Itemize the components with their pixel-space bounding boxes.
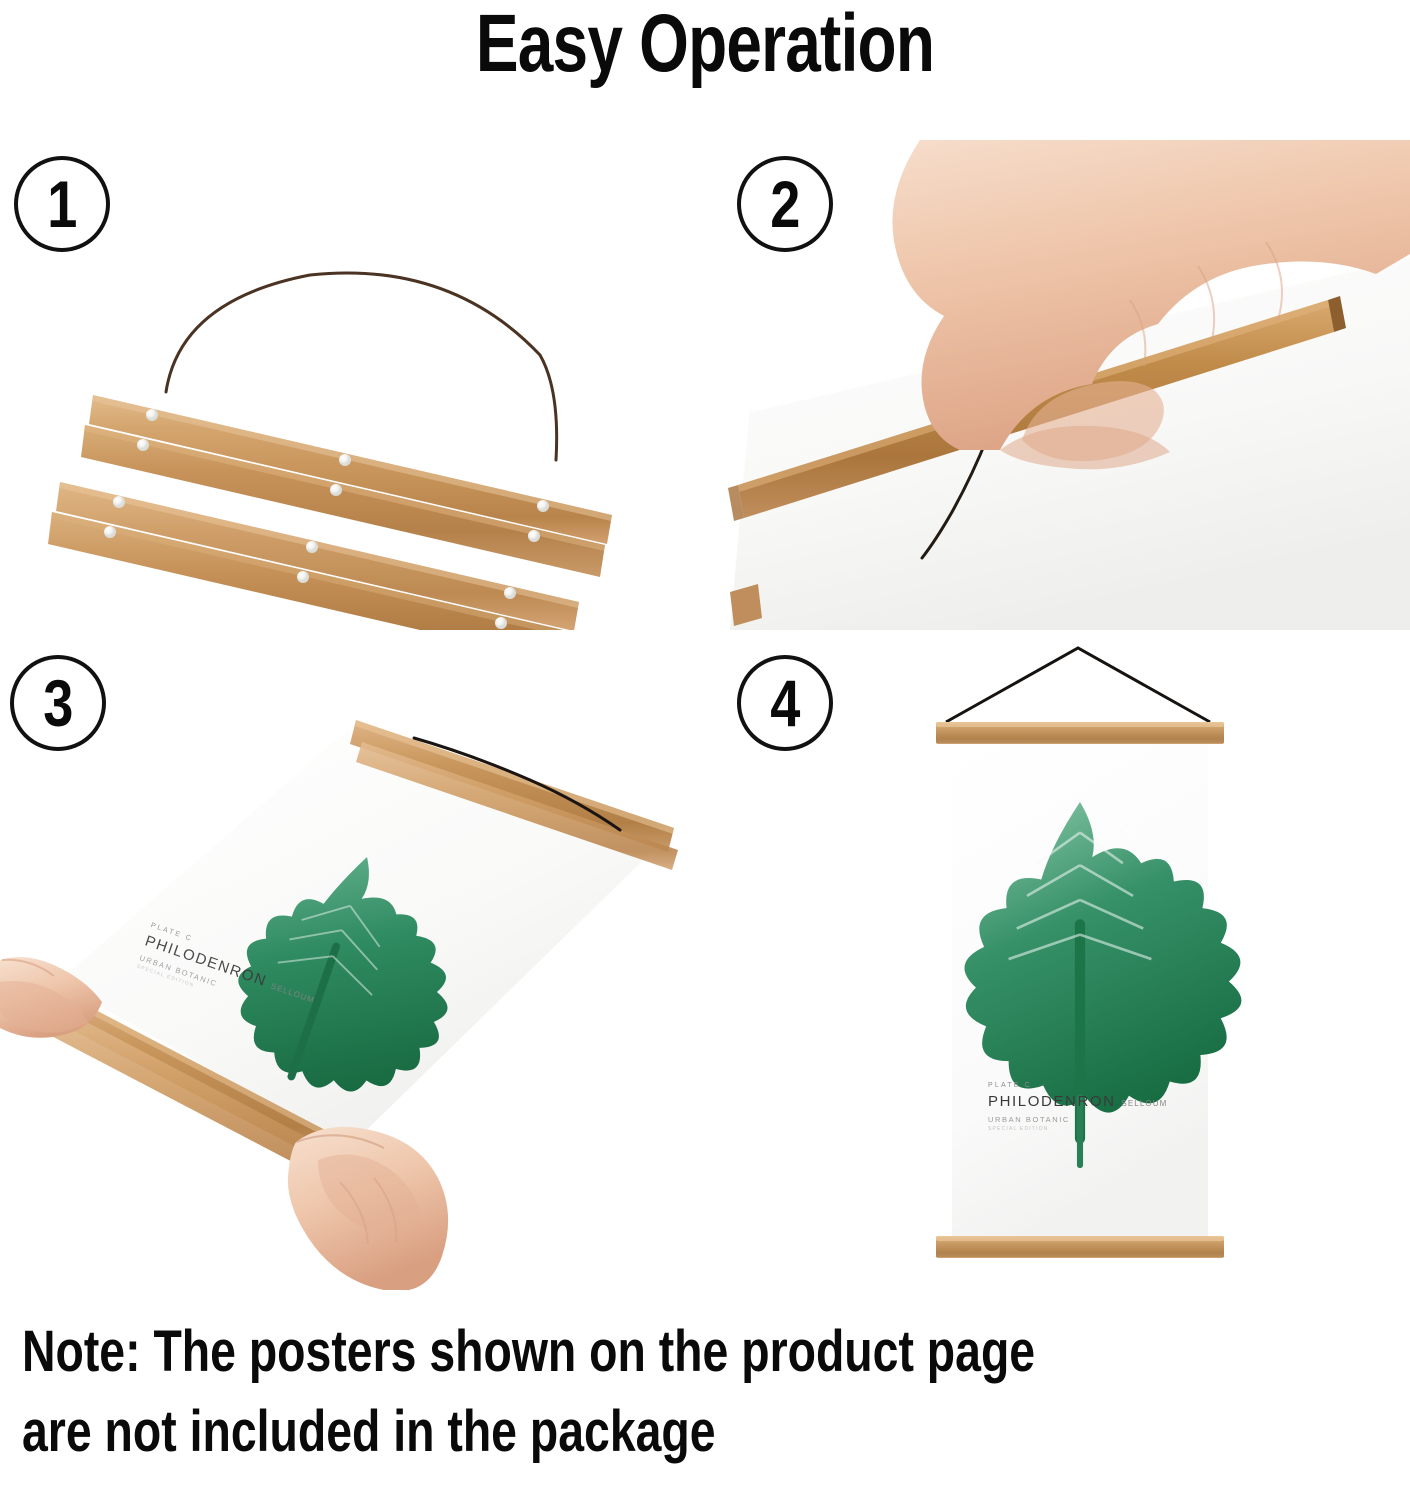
step-badge-1: 1 <box>14 156 110 252</box>
step-number-3: 3 <box>43 670 73 736</box>
page-title: Easy Operation <box>155 2 1255 86</box>
step-badge-3: 3 <box>10 655 106 751</box>
step-number-4: 4 <box>770 670 800 736</box>
wood-rail-bottom <box>936 1236 1224 1258</box>
step-number-2: 2 <box>770 171 800 237</box>
note-line-1: Note: The posters shown on the product p… <box>22 1312 1126 1392</box>
hand-right-holding-rail <box>288 1127 448 1290</box>
hanging-cord <box>946 648 1210 722</box>
wood-rail-top <box>936 722 1224 744</box>
step-badge-4: 4 <box>737 655 833 751</box>
note-text: Note: The posters shown on the product p… <box>22 1312 1126 1472</box>
step-badge-2: 2 <box>737 156 833 252</box>
step-number-1: 1 <box>47 171 77 237</box>
poster-caption-step4: PLATE C PHILODENRON SELLOUM URBAN BOTANI… <box>988 1082 1167 1132</box>
step-3-panel: PLATE C PHILODENRON SELLOUM URBAN BOTANI… <box>0 630 700 1290</box>
step-3-illustration <box>0 630 700 1290</box>
note-line-2: are not included in the package <box>22 1392 1126 1472</box>
